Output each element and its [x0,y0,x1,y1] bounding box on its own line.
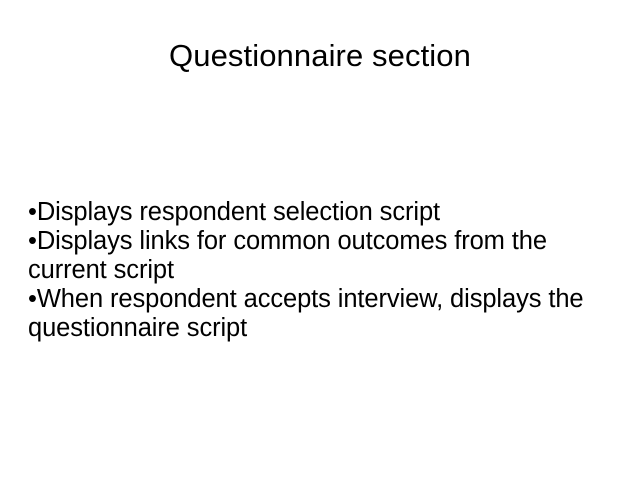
page-title: Questionnaire section [169,36,471,76]
list-item: •Displays links for common outcomes from… [28,227,616,256]
list-item-label: Displays respondent selection script [37,198,440,226]
list-item: •Displays respondent selection script [28,198,616,227]
bullet-icon: • [28,227,37,255]
list-item-label: Displays links for common outcomes from … [37,227,547,255]
bullet-icon: • [28,198,37,226]
slide-title-block: Questionnaire section [0,36,640,76]
slide-canvas: Questionnaire section •Displays responde… [0,0,640,480]
list-item-wrapped-line: current script [28,256,616,285]
list-item-label: When respondent accepts interview, displ… [37,285,584,313]
bullet-icon: • [28,285,37,313]
list-item-wrapped-line: questionnaire script [28,314,616,343]
slide-body-content: •Displays respondent selection script •D… [28,198,616,343]
list-item: •When respondent accepts interview, disp… [28,285,616,314]
